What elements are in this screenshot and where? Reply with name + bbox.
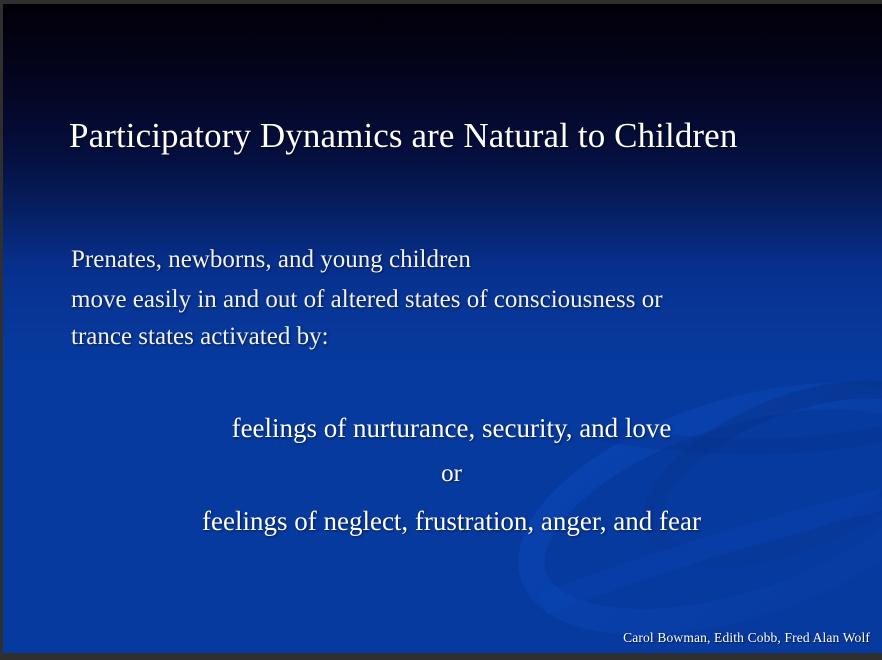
emphasis-option-b: feelings of neglect, frustration, anger,…	[21, 497, 882, 545]
emphasis-connector: or	[21, 452, 882, 497]
emphasis-block: feelings of nurturance, security, and lo…	[3, 404, 882, 545]
slide-content: Participatory Dynamics are Natural to Ch…	[3, 4, 882, 653]
slide-body: Prenates, newborns, and young children m…	[71, 242, 831, 355]
slide-attribution: Carol Bowman, Edith Cobb, Fred Alan Wolf	[623, 630, 870, 646]
body-line-3: trance states activated by:	[71, 319, 831, 355]
body-line-1: Prenates, newborns, and young children	[71, 242, 831, 278]
body-line-2: move easily in and out of altered states…	[71, 282, 831, 318]
emphasis-option-a: feelings of nurturance, security, and lo…	[21, 404, 882, 452]
slide-title: Participatory Dynamics are Natural to Ch…	[69, 116, 849, 155]
slide-frame: Participatory Dynamics are Natural to Ch…	[0, 0, 882, 660]
slide-canvas: Participatory Dynamics are Natural to Ch…	[3, 4, 882, 653]
